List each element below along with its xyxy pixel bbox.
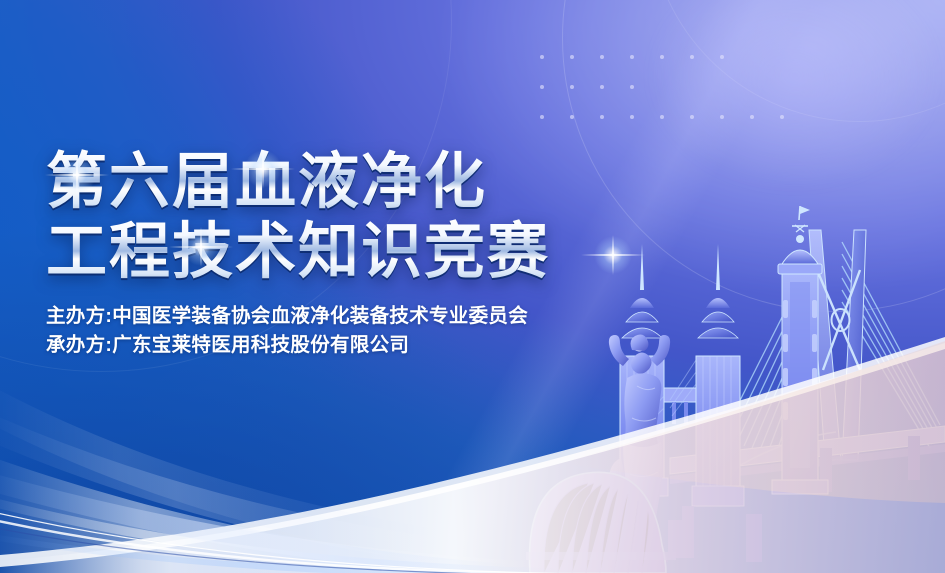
co-organizer-line: 承办方:广东宝莱特医用科技股份有限公司 (46, 331, 686, 360)
banner-title-line-1: 第六届血液净化 (46, 148, 686, 214)
organizer-line: 主办方:中国医学装备协会血液净化装备技术专业委员会 (46, 302, 686, 331)
dot-grid-pattern (540, 55, 784, 145)
banner-title-line-2: 工程技术知识竞赛 (46, 218, 686, 284)
dot-grid-row (540, 115, 784, 119)
dot-grid-row (540, 85, 784, 89)
dot-grid-row (540, 55, 784, 59)
organizer-block: 主办方:中国医学装备协会血液净化装备技术专业委员会 承办方:广东宝莱特医用科技股… (46, 302, 686, 360)
banner-text-block: 第六届血液净化 工程技术知识竞赛 主办方:中国医学装备协会血液净化装备技术专业委… (46, 148, 686, 360)
event-banner: 第六届血液净化 工程技术知识竞赛 主办方:中国医学装备协会血液净化装备技术专业委… (0, 0, 945, 573)
